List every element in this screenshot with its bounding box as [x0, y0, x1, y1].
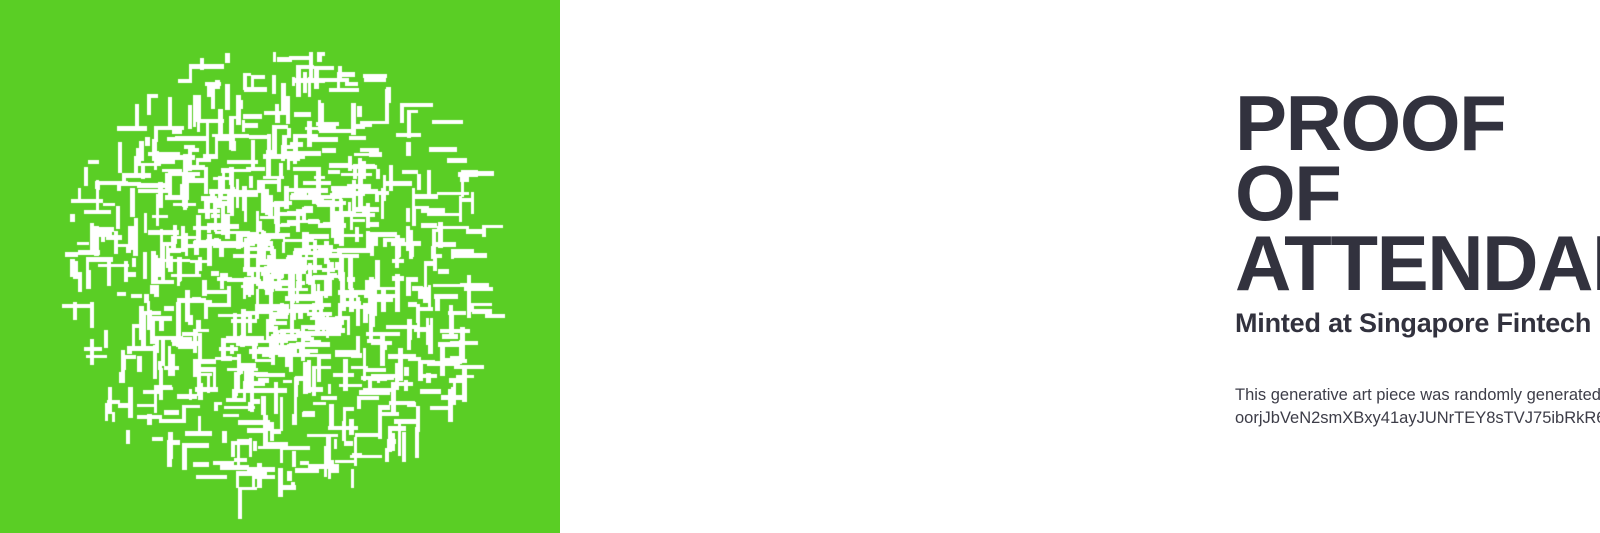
- description-text: This generative art piece was randomly g…: [1235, 384, 1600, 407]
- title-line-proof: PROOF: [1235, 88, 1600, 158]
- title-line-of: OF: [1235, 158, 1600, 228]
- title-line-attendance: ATTENDANCE: [1235, 228, 1600, 298]
- proof-of-attendance-card: PROOF OF ATTENDANCE Minted at Singapore …: [0, 0, 1600, 533]
- page-title: PROOF OF ATTENDANCE Minted at Singapore …: [560, 88, 1600, 337]
- text-panel: PROOF OF ATTENDANCE Minted at Singapore …: [560, 0, 1600, 533]
- generative-art-panel: [0, 0, 560, 533]
- generative-art-canvas: [0, 0, 560, 533]
- tezos-hash-value: oorjJbVeN2smXBxy41ayJUNrTEY8sTVJ75ibRkR6…: [1235, 407, 1600, 430]
- subtitle-minted-at: Minted at Singapore Fintech Festival 202…: [1235, 309, 1600, 337]
- description-block: This generative art piece was randomly g…: [1235, 384, 1600, 431]
